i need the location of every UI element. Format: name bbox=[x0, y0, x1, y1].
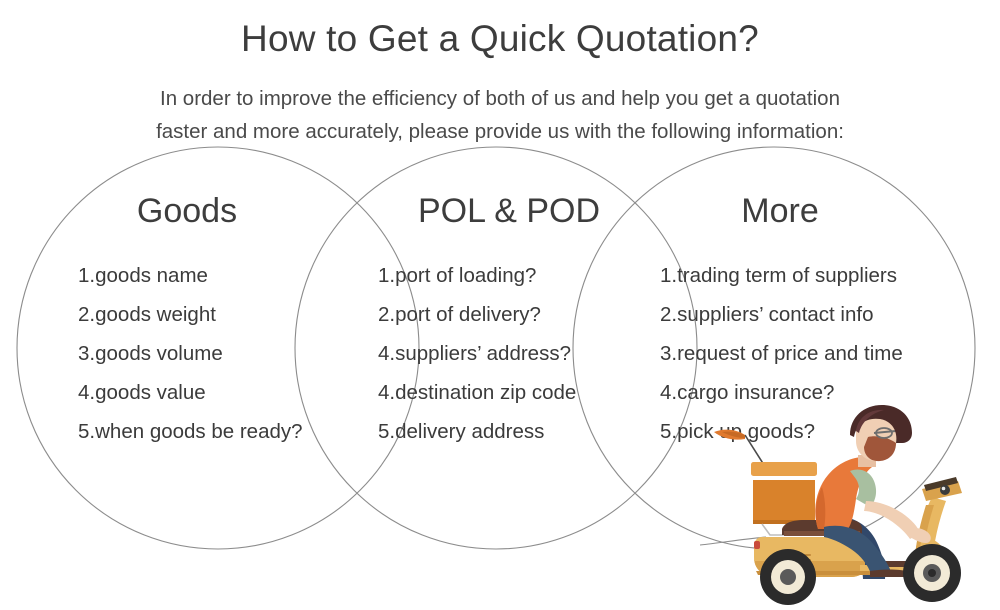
rear-wheel-hub bbox=[780, 569, 796, 585]
list-item-label: destination zip code bbox=[395, 381, 576, 404]
list-item-number: 4. bbox=[378, 381, 395, 404]
list-item: 4.suppliers’ address? bbox=[378, 334, 648, 373]
list-item-label: suppliers’ contact info bbox=[677, 303, 873, 326]
antenna-icon bbox=[745, 435, 764, 465]
list-item-label: cargo insurance? bbox=[677, 381, 834, 404]
list-item-number: 5. bbox=[660, 420, 677, 443]
quotation-infographic: How to Get a Quick Quotation? In order t… bbox=[0, 0, 1000, 610]
list-item-number: 4. bbox=[378, 342, 395, 365]
tail-light-icon bbox=[754, 541, 760, 549]
column-pol-pod-heading: POL & POD bbox=[378, 190, 648, 232]
list-item-number: 5. bbox=[78, 420, 95, 443]
list-item: 3.request of price and time bbox=[660, 334, 970, 373]
list-item-number: 3. bbox=[660, 342, 677, 365]
list-item-label: delivery address bbox=[395, 420, 544, 443]
list-item-number: 2. bbox=[378, 303, 395, 326]
list-item: 1.goods name bbox=[78, 256, 368, 295]
list-item-label: goods volume bbox=[95, 342, 223, 365]
list-item-label: port of delivery? bbox=[395, 303, 541, 326]
list-item: 4.destination zip code bbox=[378, 373, 648, 412]
list-item-label: request of price and time bbox=[677, 342, 903, 365]
cargo-box-body bbox=[753, 476, 815, 524]
list-item-label: trading term of suppliers bbox=[677, 264, 897, 287]
list-item: 2.goods weight bbox=[78, 295, 368, 334]
column-goods: Goods 1.goods name 2.goods weight 3.good… bbox=[78, 190, 368, 451]
page-subtitle: In order to improve the efficiency of bo… bbox=[100, 82, 900, 148]
list-item-label: goods weight bbox=[95, 303, 216, 326]
column-more-heading: More bbox=[660, 190, 970, 232]
page-title: How to Get a Quick Quotation? bbox=[0, 16, 1000, 62]
list-item-number: 3. bbox=[78, 342, 95, 365]
cargo-box-stripe bbox=[753, 476, 815, 480]
list-item: 4.goods value bbox=[78, 373, 368, 412]
column-pol-pod-list: 1.port of loading? 2.port of delivery? 4… bbox=[378, 256, 648, 451]
column-goods-heading: Goods bbox=[78, 190, 368, 232]
list-item-number: 4. bbox=[78, 381, 95, 404]
list-item: 2.suppliers’ contact info bbox=[660, 295, 970, 334]
delivery-scooter-illustration bbox=[700, 405, 1000, 610]
headlight-glint bbox=[942, 487, 946, 491]
list-item-label: when goods be ready? bbox=[95, 420, 302, 443]
list-item-label: goods value bbox=[95, 381, 206, 404]
list-item-label: port of loading? bbox=[395, 264, 536, 287]
list-item: 1.port of loading? bbox=[378, 256, 648, 295]
cargo-box-lid bbox=[751, 462, 817, 476]
list-item-number: 1. bbox=[378, 264, 395, 287]
list-item: 5.delivery address bbox=[378, 412, 648, 451]
front-wheel-center bbox=[928, 569, 936, 577]
column-pol-pod: POL & POD 1.port of loading? 2.port of d… bbox=[378, 190, 648, 451]
subtitle-line-2: faster and more accurately, please provi… bbox=[100, 115, 900, 148]
list-item-number: 2. bbox=[660, 303, 677, 326]
list-item: 3.goods volume bbox=[78, 334, 368, 373]
list-item-label: goods name bbox=[95, 264, 208, 287]
list-item: 2.port of delivery? bbox=[378, 295, 648, 334]
list-item-number: 4. bbox=[660, 381, 677, 404]
list-item-number: 2. bbox=[78, 303, 95, 326]
list-item-number: 5. bbox=[378, 420, 395, 443]
rider-shoe bbox=[870, 570, 906, 578]
list-item-number: 1. bbox=[660, 264, 677, 287]
column-goods-list: 1.goods name 2.goods weight 3.goods volu… bbox=[78, 256, 368, 451]
list-item: 1.trading term of suppliers bbox=[660, 256, 970, 295]
headlight-icon bbox=[940, 485, 950, 495]
list-item: 5.when goods be ready? bbox=[78, 412, 368, 451]
list-item-number: 1. bbox=[78, 264, 95, 287]
list-item-label: suppliers’ address? bbox=[395, 342, 571, 365]
subtitle-line-1: In order to improve the efficiency of bo… bbox=[100, 82, 900, 115]
